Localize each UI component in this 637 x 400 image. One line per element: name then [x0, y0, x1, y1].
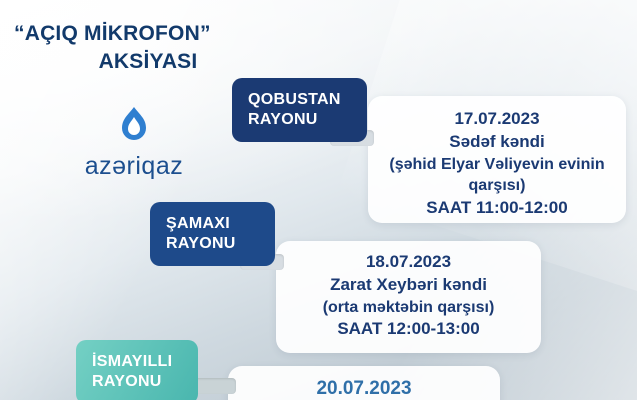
- event-date: 20.07.2023: [240, 376, 488, 400]
- page-title: “AÇIQ MİKROFON” AKSİYASI: [14, 20, 264, 75]
- district-line-2: RAYONU: [248, 110, 353, 130]
- district-line-1: İSMAYILLI: [92, 352, 184, 372]
- event-detail: (şəhid Elyar Vəliyevin evinin: [380, 154, 614, 176]
- event-date: 18.07.2023: [288, 251, 529, 274]
- flame-icon: [112, 104, 156, 148]
- event-card-1: 17.07.2023 Sədəf kəndi (şəhid Elyar Vəli…: [368, 96, 626, 223]
- district-line-2: RAYONU: [92, 372, 184, 392]
- headline-line-1: “AÇIQ MİKROFON”: [14, 20, 264, 48]
- district-badge-qobustan: QOBUSTAN RAYONU: [232, 78, 367, 142]
- event-time: SAAT 12:00-13:00: [288, 318, 529, 341]
- district-badge-samaxi: ŞAMAXI RAYONU: [150, 202, 275, 266]
- event-place: Zarat Xeybəri kəndi: [288, 274, 529, 297]
- headline-line-2: AKSİYASI: [14, 48, 264, 76]
- brand-name: azəriqaz: [44, 152, 224, 181]
- event-card-2: 18.07.2023 Zarat Xeybəri kəndi (orta mək…: [276, 241, 541, 353]
- event-time: SAAT 11:00-12:00: [380, 197, 614, 220]
- event-card-3: 20.07.2023: [228, 366, 500, 400]
- poster-canvas: “AÇIQ MİKROFON” AKSİYASI azəriqaz QOBUST…: [0, 0, 637, 400]
- district-line-1: QOBUSTAN: [248, 90, 353, 110]
- district-line-1: ŞAMAXI: [166, 214, 261, 234]
- connector-3: [192, 378, 236, 394]
- event-detail: (orta məktəbin qarşısı): [288, 297, 529, 319]
- district-badge-ismayilli: İSMAYILLI RAYONU: [76, 340, 198, 400]
- event-detail-2: qarşısı): [380, 175, 614, 197]
- brand-logo: azəriqaz: [44, 104, 224, 181]
- event-date: 17.07.2023: [380, 108, 614, 131]
- district-line-2: RAYONU: [166, 234, 261, 254]
- event-place: Sədəf kəndi: [380, 131, 614, 154]
